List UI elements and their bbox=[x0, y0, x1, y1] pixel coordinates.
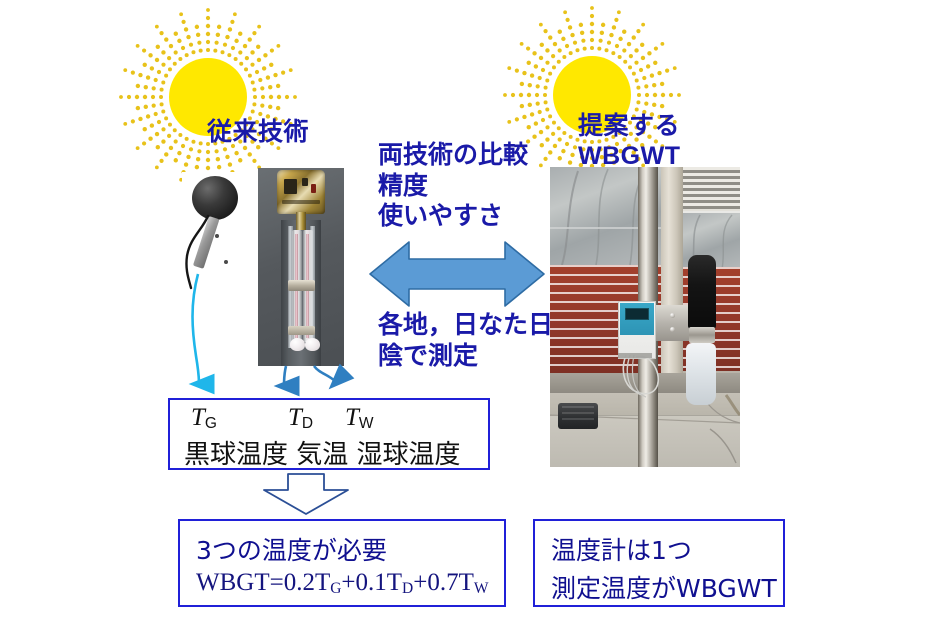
lower-clamp bbox=[288, 326, 315, 335]
bracket-bolt bbox=[670, 313, 675, 318]
formula-sub-g: G bbox=[330, 580, 341, 597]
comparison-bottom-text: 各地，日なた日 陰で測定 bbox=[378, 310, 553, 371]
sun-icon-left bbox=[113, 2, 303, 192]
symbol-tg: TG bbox=[191, 404, 217, 433]
formula-mid1: +0.1T bbox=[341, 569, 402, 596]
wbgwt-field-installation-photo bbox=[550, 167, 740, 467]
result-right-line1: 温度計は1つ bbox=[551, 531, 777, 567]
logger-lcd-display bbox=[625, 308, 650, 320]
slide-canvas: 従来技術 提案する WBGWT 両技術の比較 bbox=[0, 0, 930, 620]
bracket-hole bbox=[224, 260, 228, 264]
measured-temperatures-box: TG TD TW 黒球温度 気温 湿球温度 bbox=[168, 398, 490, 470]
result-box-left: 3つの温度が必要 WBGT=0.2TG+0.1TD+0.7TW bbox=[178, 519, 506, 607]
right-section-heading: 提案する WBGWT bbox=[578, 112, 680, 171]
double-headed-arrow-icon bbox=[367, 238, 547, 310]
concrete-column bbox=[661, 167, 683, 373]
ground-equipment-box bbox=[558, 403, 598, 429]
formula-sub-w: W bbox=[474, 580, 489, 597]
result-left-line1: 3つの温度が必要 bbox=[196, 531, 489, 567]
result-right-line2: 測定温度がWBGWT bbox=[551, 569, 777, 605]
symbol-tg-sub: G bbox=[205, 415, 217, 432]
symbol-tw: TW bbox=[345, 404, 374, 433]
left-section-heading: 従来技術 bbox=[207, 118, 309, 148]
formula-sub-d: D bbox=[402, 580, 413, 597]
curved-arrow-icon bbox=[284, 366, 286, 386]
comparison-top-text: 両技術の比較 精度 使いやすさ bbox=[378, 140, 528, 232]
sensor-coupling-ring bbox=[689, 327, 715, 343]
mid-clamp bbox=[288, 280, 315, 291]
data-logger bbox=[618, 301, 656, 359]
psychrometer-fan-head bbox=[277, 170, 325, 214]
mounting-bracket bbox=[652, 305, 690, 341]
bracket-bolt bbox=[670, 327, 675, 332]
wall-louver-vent bbox=[681, 167, 740, 211]
globe-thermometer-photo bbox=[182, 172, 254, 297]
wbgt-formula: WBGT=0.2TG+0.1TD+0.7TW bbox=[196, 569, 489, 598]
temperature-labels: 黒球温度 気温 湿球温度 bbox=[184, 434, 461, 471]
result-box-right: 温度計は1つ 測定温度がWBGWT bbox=[533, 519, 785, 607]
symbol-td-sub: D bbox=[302, 415, 313, 432]
symbol-td: TD bbox=[288, 404, 313, 433]
white-sensor-housing bbox=[686, 343, 716, 405]
wet-bulb-tip bbox=[305, 338, 320, 351]
formula-mid2: +0.7T bbox=[413, 569, 474, 596]
globe-cable bbox=[182, 208, 222, 296]
fan-neck bbox=[296, 212, 306, 230]
down-block-arrow-icon bbox=[258, 472, 354, 516]
black-globe-sensor bbox=[688, 255, 716, 329]
sensor-cables bbox=[618, 353, 670, 423]
formula-lhs: WBGT=0.2T bbox=[196, 569, 330, 596]
symbol-tw-sub: W bbox=[359, 415, 374, 432]
dry-bulb-tip bbox=[290, 338, 305, 351]
assmann-psychrometer-photo bbox=[258, 168, 344, 366]
logger-faceplate bbox=[620, 303, 654, 335]
curved-arrow-icon bbox=[314, 366, 336, 382]
